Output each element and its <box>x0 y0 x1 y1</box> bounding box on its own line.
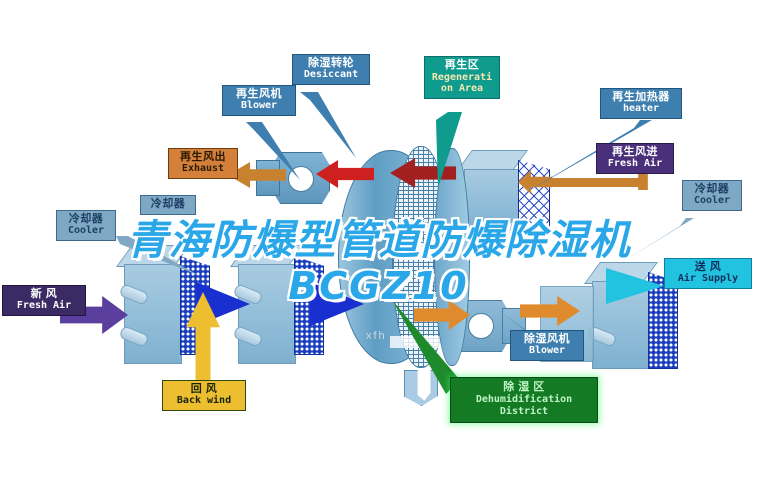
label-cooler-left[interactable]: 冷却器 Cooler <box>56 210 116 241</box>
label-exhaust-en: Exhaust <box>171 164 235 175</box>
label-cooler-left-rear-cn: 冷却器 <box>143 199 193 211</box>
label-exhaust[interactable]: 再生风出 Exhaust <box>168 148 238 179</box>
label-regen-heater-en: heater <box>603 104 679 115</box>
label-regeneration-area-cn: 再生区 <box>427 60 497 72</box>
label-back-wind[interactable]: 回 风 Back wind <box>162 380 246 411</box>
label-fresh-air-in-en: Fresh Air <box>5 301 83 312</box>
label-regeneration-area[interactable]: 再生区 Regenerati on Area <box>424 56 500 99</box>
label-dehumid-blower-en: Blower <box>513 346 581 357</box>
label-desiccant-wheel-en: Desiccant <box>295 70 367 81</box>
label-cooler-left-rear[interactable]: 冷却器 <box>140 195 196 215</box>
label-dehumidification-area-en: Dehumidification District <box>453 394 595 418</box>
label-dehumid-blower[interactable]: 除湿风机 Blower <box>510 330 584 361</box>
label-dehumidification-area[interactable]: 除 湿 区 Dehumidification District <box>450 377 598 423</box>
leader-lines <box>0 0 757 488</box>
label-dehumidification-area-cn: 除 湿 区 <box>453 382 595 394</box>
label-air-supply-en: Air Supply <box>667 274 749 285</box>
label-cooler-left-en: Cooler <box>59 226 113 237</box>
label-regen-heater[interactable]: 再生加热器 heater <box>600 88 682 119</box>
label-cooler-right[interactable]: 冷却器 Cooler <box>682 180 742 211</box>
label-regen-fresh-air-in-en: Fresh Air <box>599 159 671 170</box>
label-air-supply[interactable]: 送 风 Air Supply <box>664 258 752 289</box>
diagram-canvas: xfh 除湿转轮 Desiccant 再生风机 Blower 再生区 <box>0 0 757 488</box>
label-regen-blower-en: Blower <box>225 101 293 112</box>
label-fresh-air-in[interactable]: 新 风 Fresh Air <box>2 285 86 316</box>
label-cooler-right-en: Cooler <box>685 196 739 207</box>
label-regen-fresh-air-in[interactable]: 再生风进 Fresh Air <box>596 143 674 174</box>
label-regeneration-area-en: Regenerati on Area <box>427 72 497 95</box>
label-back-wind-en: Back wind <box>165 396 243 407</box>
label-desiccant-wheel[interactable]: 除湿转轮 Desiccant <box>292 54 370 85</box>
label-regen-blower[interactable]: 再生风机 Blower <box>222 85 296 116</box>
